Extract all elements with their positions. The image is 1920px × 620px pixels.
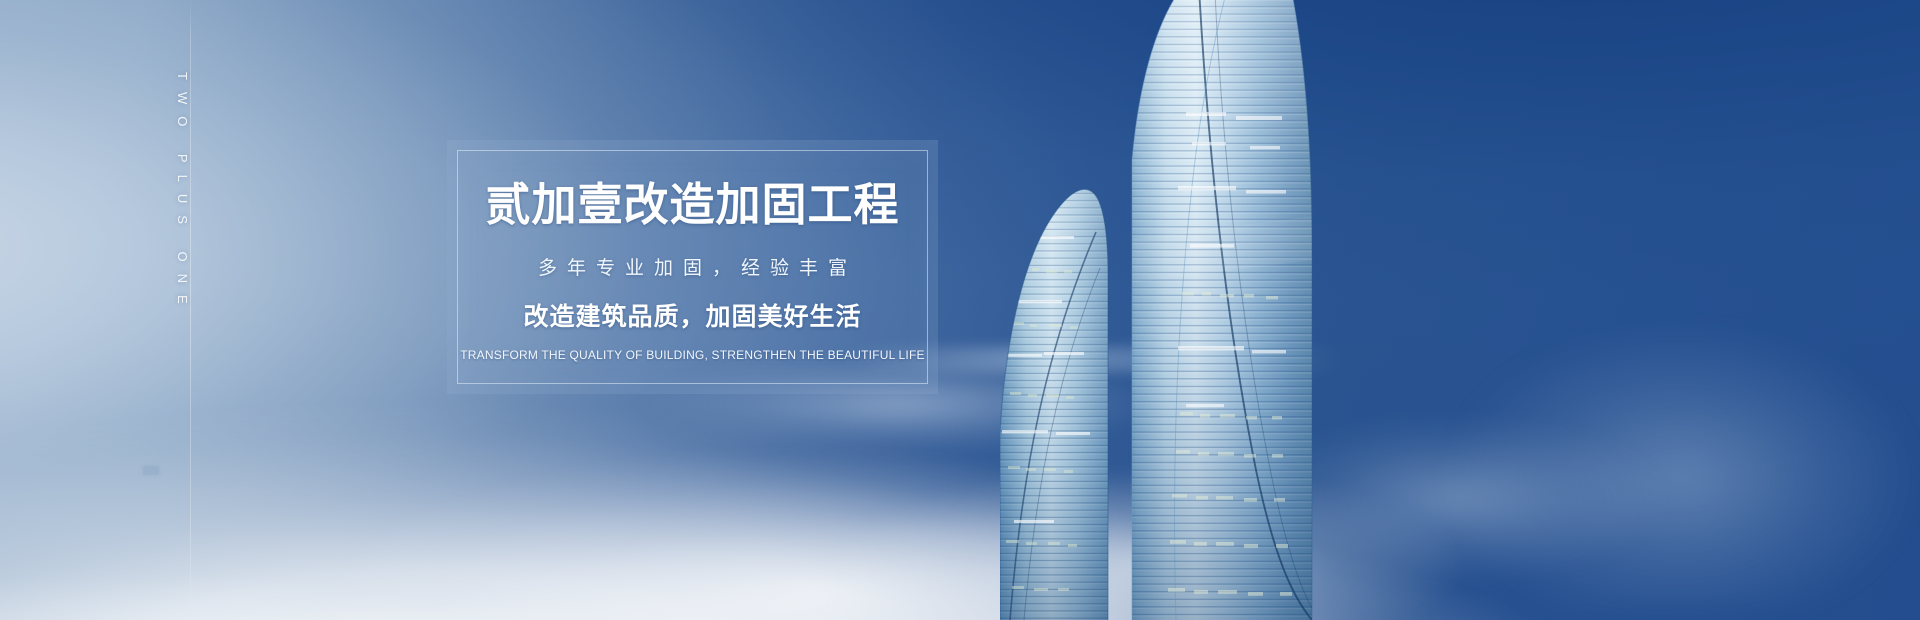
headline-tagline: 改造建筑品质，加固美好生活 <box>523 305 861 330</box>
brand-corner-mark <box>143 466 159 475</box>
tower-right <box>1120 0 1330 620</box>
brand-divider-line <box>190 0 191 620</box>
headline-english-subtitle: TRANSFORM THE QUALITY OF BUILDING, STREN… <box>460 349 924 361</box>
skyscraper-photo <box>1000 0 1920 620</box>
panel-content: 贰加壹改造加固工程 多年专业加固，经验丰富 改造建筑品质，加固美好生活 TRAN… <box>447 140 938 394</box>
twin-towers-illustration <box>1000 0 1920 620</box>
brand-vertical-text: TWO PLUS ONE <box>175 72 190 316</box>
hero-banner: TWO PLUS ONE 贰加壹改造加固工程 多年专业加固，经验丰富 改造建筑品… <box>0 0 1920 620</box>
headline-panel: 贰加壹改造加固工程 多年专业加固，经验丰富 改造建筑品质，加固美好生活 TRAN… <box>447 140 938 394</box>
headline-title: 贰加壹改造加固工程 <box>485 182 899 227</box>
tower-left <box>1000 150 1130 620</box>
headline-subtitle: 多年专业加固，经验丰富 <box>528 259 857 278</box>
